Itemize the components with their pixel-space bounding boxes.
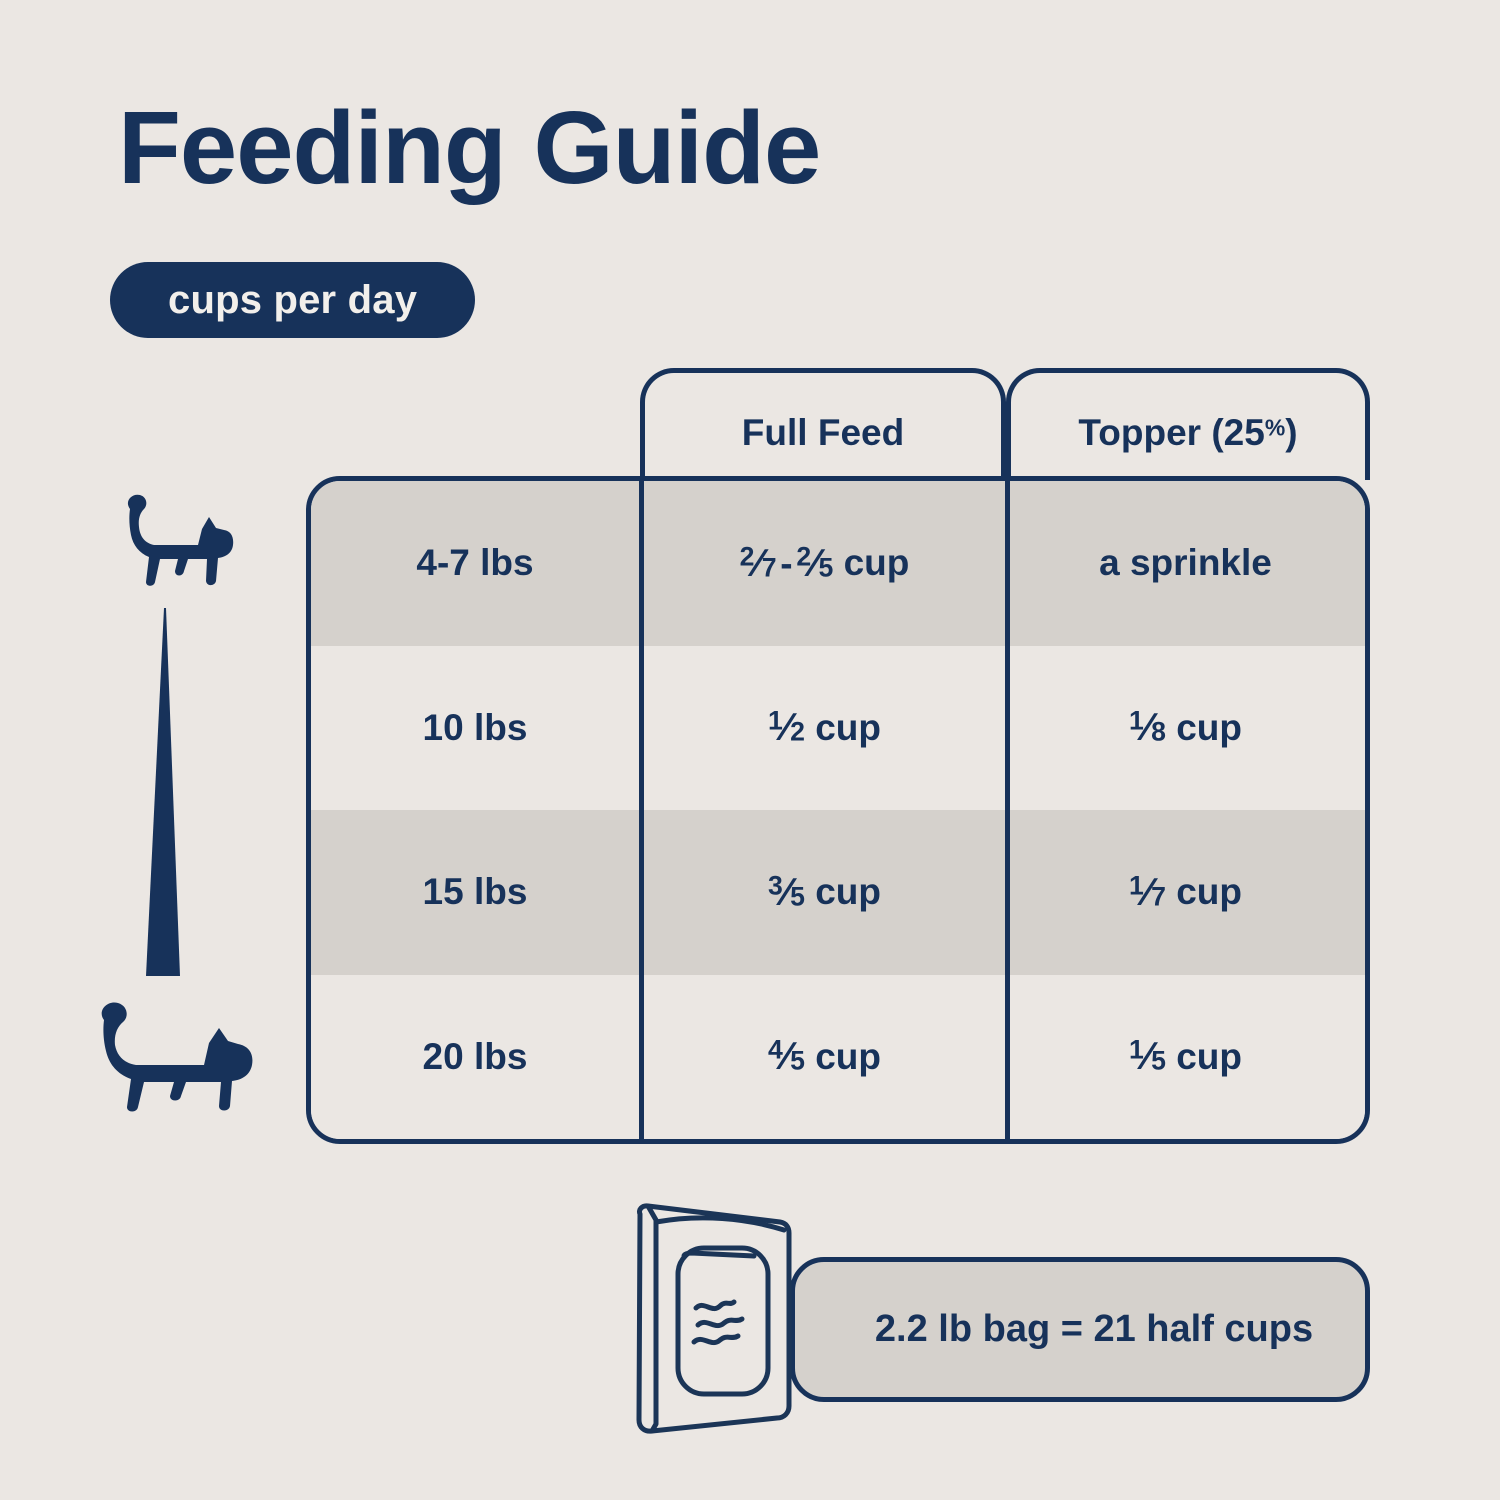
denominator: 5 [790, 881, 805, 911]
bag-yield-banner: 2.2 lb bag = 21 half cups [790, 1257, 1370, 1402]
bag-yield-label: 2.2 lb bag = 21 half cups [875, 1308, 1313, 1351]
denominator: 5 [790, 1046, 805, 1076]
size-gradient-wedge-icon [140, 608, 190, 976]
column-header-topper-text: Topper (25 [1078, 412, 1264, 453]
unit-label: cup [815, 1036, 881, 1078]
feeding-guide-page: Feeding Guide cups per day Full Feed Top… [0, 0, 1500, 1500]
cell-weight: 20 lbs [311, 975, 639, 1140]
cell-topper: 1⁄8 cup [1005, 646, 1361, 811]
cat-silhouette-large-icon [80, 996, 266, 1116]
fraction: 1⁄8 [1129, 705, 1166, 750]
page-title: Feeding Guide [118, 96, 820, 199]
column-header-topper-tail: ) [1285, 412, 1297, 453]
table-row: 20 lbs 4⁄5 cup 1⁄5 cup [311, 975, 1365, 1140]
cell-topper: a sprinkle [1005, 481, 1361, 646]
cat-silhouette-small-icon [112, 487, 242, 595]
unit-label: cup [815, 871, 881, 913]
denominator: 7 [762, 552, 777, 582]
fraction: 1⁄2 [768, 705, 805, 750]
badge-label: cups per day [168, 280, 417, 320]
column-header-full-feed-label: Full Feed [742, 412, 904, 454]
unit-label: cup [1176, 1036, 1242, 1078]
cell-topper: 1⁄7 cup [1005, 810, 1361, 975]
cell-topper: 1⁄5 cup [1005, 975, 1361, 1140]
fraction: 1⁄7 [1129, 870, 1166, 915]
cell-full-feed: 3⁄5 cup [639, 810, 1005, 975]
fraction-slash: ⁄ [754, 541, 761, 585]
cell-full-feed: 2⁄7-2⁄5 cup [639, 481, 1005, 646]
cups-per-day-badge: cups per day [110, 262, 475, 338]
numerator: 1 [1129, 706, 1144, 736]
numerator: 3 [768, 870, 783, 900]
column-header-full-feed: Full Feed [640, 368, 1006, 480]
numerator: 1 [1129, 1035, 1144, 1065]
table-body: 4-7 lbs 2⁄7-2⁄5 cup a sprinkle 10 lbs 1⁄… [306, 476, 1370, 1144]
table-row: 4-7 lbs 2⁄7-2⁄5 cup a sprinkle [311, 481, 1365, 646]
denominator: 8 [1151, 717, 1166, 747]
table-row: 10 lbs 1⁄2 cup 1⁄8 cup [311, 646, 1365, 811]
numerator: 4 [768, 1035, 783, 1065]
table-row: 15 lbs 3⁄5 cup 1⁄7 cup [311, 810, 1365, 975]
cell-full-feed: 1⁄2 cup [639, 646, 1005, 811]
numerator: 1 [1129, 870, 1144, 900]
column-header-topper: Topper (25%) [1006, 368, 1370, 480]
wavy-lines-logo-icon [694, 1302, 742, 1343]
pet-food-bag-icon [618, 1196, 818, 1441]
unit-label: cup [815, 707, 881, 749]
numerator: 1 [768, 706, 783, 736]
unit-label: cup [1176, 707, 1242, 749]
range-dash: - [777, 543, 797, 584]
numerator: 2 [740, 541, 755, 571]
fraction: 3⁄5 [768, 870, 805, 915]
denominator: 2 [790, 717, 805, 747]
denominator: 5 [1151, 1046, 1166, 1076]
numerator: 2 [796, 541, 811, 571]
fraction: 1⁄5 [1129, 1034, 1166, 1079]
unit-label: cup [844, 542, 910, 584]
denominator: 5 [818, 552, 833, 582]
percent-symbol: % [1265, 414, 1285, 440]
fraction: 4⁄5 [768, 1034, 805, 1079]
cell-weight: 10 lbs [311, 646, 639, 811]
fraction-range: 2⁄7-2⁄5 [740, 541, 834, 586]
cell-full-feed: 4⁄5 cup [639, 975, 1005, 1140]
cell-weight: 4-7 lbs [311, 481, 639, 646]
denominator: 7 [1151, 881, 1166, 911]
feeding-table: Full Feed Topper (25%) 4-7 lbs 2⁄7-2⁄5 c… [306, 368, 1370, 1144]
unit-label: cup [1176, 871, 1242, 913]
table-header-tabs: Full Feed Topper (25%) [640, 368, 1370, 480]
cell-weight: 15 lbs [311, 810, 639, 975]
column-header-topper-label: Topper (25%) [1078, 412, 1297, 454]
